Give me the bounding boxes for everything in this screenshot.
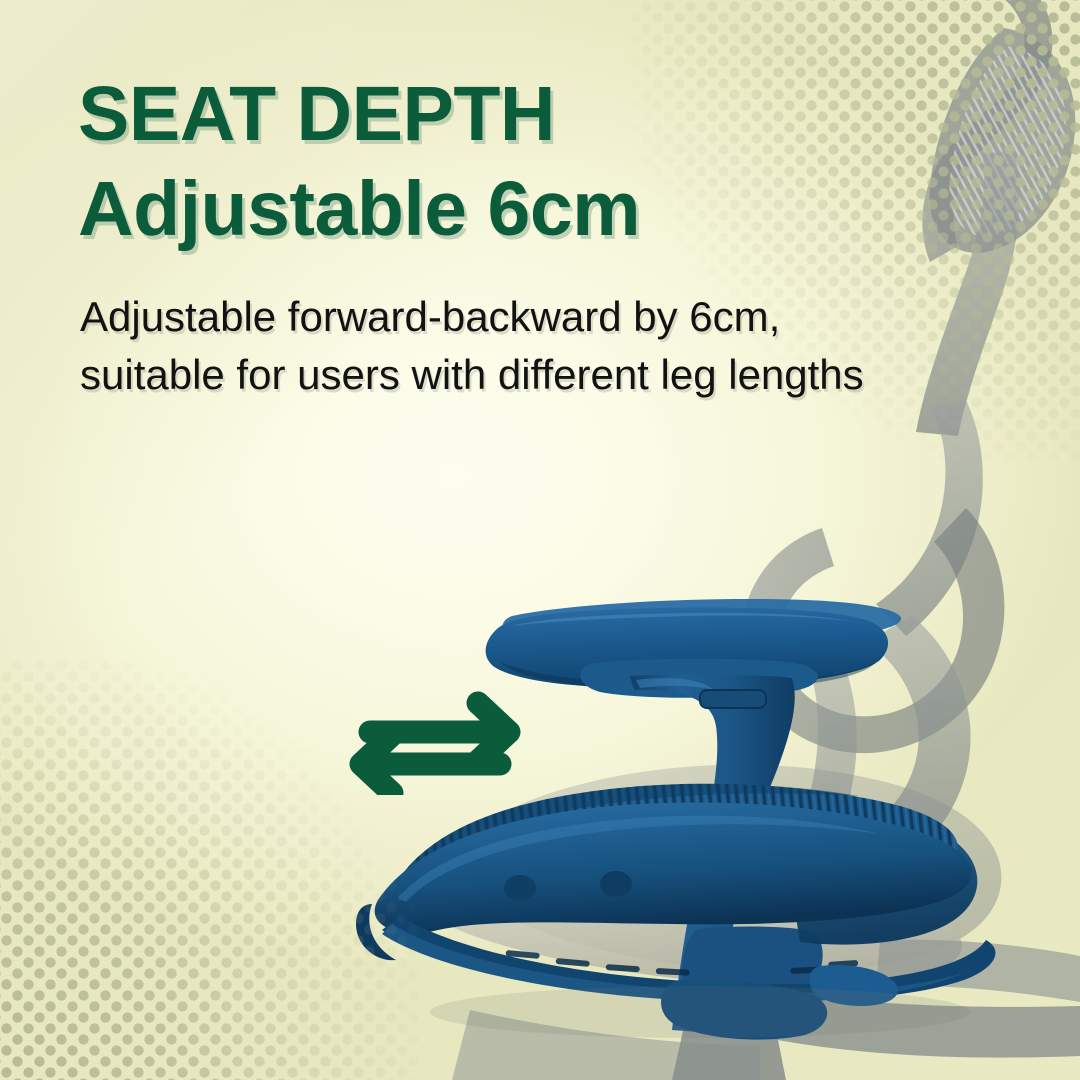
description-line-1: Adjustable forward-backward by 6cm, [80,288,960,346]
headline-line-2: Adjustable 6cm [78,171,838,248]
seat-stud-right [600,871,632,897]
bidirectional-horizontal-arrow-icon [330,690,540,795]
seat-stud-left [504,875,536,901]
headline-line-1: SEAT DEPTH [78,76,838,153]
product-feature-card: SEAT DEPTH Adjustable 6cm Adjustable for… [0,0,1080,1080]
feature-description: Adjustable forward-backward by 6cm, suit… [80,288,960,404]
description-line-2: suitable for users with different leg le… [80,346,960,404]
seat-contact-shadow [430,986,970,1038]
page-title: SEAT DEPTH Adjustable 6cm [78,76,838,248]
armrest-height-button[interactable] [700,690,766,708]
